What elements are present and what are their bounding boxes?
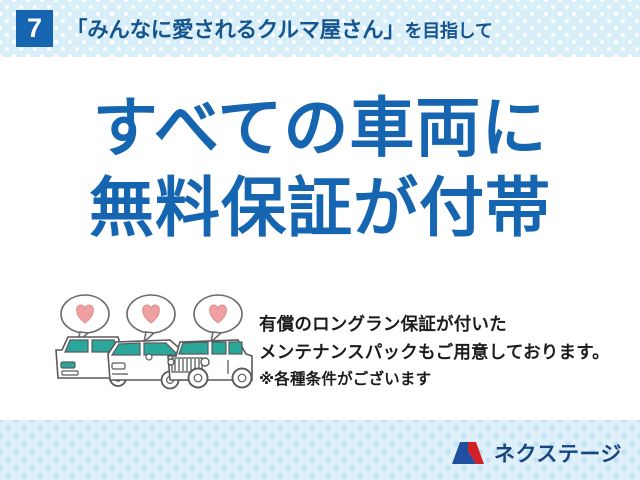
nextage-n-logo-icon bbox=[451, 440, 485, 466]
header-title: 「みんなに愛されるクルマ屋さん」を目指して bbox=[66, 13, 493, 44]
minivan-headlight bbox=[112, 363, 125, 369]
headline-line-1: すべての車両に bbox=[0, 95, 640, 161]
minivan-mirror bbox=[146, 354, 152, 360]
header-title-quoted: 「みんなに愛されるクルマ屋さん」 bbox=[66, 18, 405, 42]
suv-illustration bbox=[168, 340, 252, 388]
body-copy-note: ※各種条件がございます bbox=[259, 367, 634, 392]
body-copy: 有償のロングラン保証が付いた メンテナンスパックもご用意しております。 ※各種条… bbox=[259, 310, 634, 392]
header: 7 「みんなに愛されるクルマ屋さん」を目指して bbox=[0, 0, 640, 57]
section-number-badge: 7 bbox=[16, 10, 53, 47]
cars-illustration bbox=[52, 292, 257, 398]
suv-headlight bbox=[201, 358, 209, 366]
suv-side-window-1 bbox=[212, 342, 226, 354]
van-bumper bbox=[62, 371, 78, 375]
brand-name: ネクステージ bbox=[494, 438, 622, 468]
suv-side-window-2 bbox=[229, 342, 242, 354]
headline: すべての車両に 無料保証が付帯 bbox=[0, 95, 640, 242]
headline-line-2: 無料保証が付帯 bbox=[0, 175, 640, 241]
body-copy-line-2: メンテナンスパックもご用意しております。 bbox=[259, 338, 634, 366]
suv-windshield bbox=[179, 342, 208, 354]
van-headlight bbox=[61, 362, 75, 368]
advertisement-banner: 7 「みんなに愛されるクルマ屋さん」を目指して すべての車両に 無料保証が付帯 bbox=[0, 0, 640, 480]
vehicle-row bbox=[52, 330, 257, 396]
brand-lockup: ネクステージ bbox=[451, 438, 622, 468]
body-copy-line-1: 有償のロングラン保証が付いた bbox=[259, 310, 634, 338]
header-title-suffix: を目指して bbox=[405, 21, 493, 41]
